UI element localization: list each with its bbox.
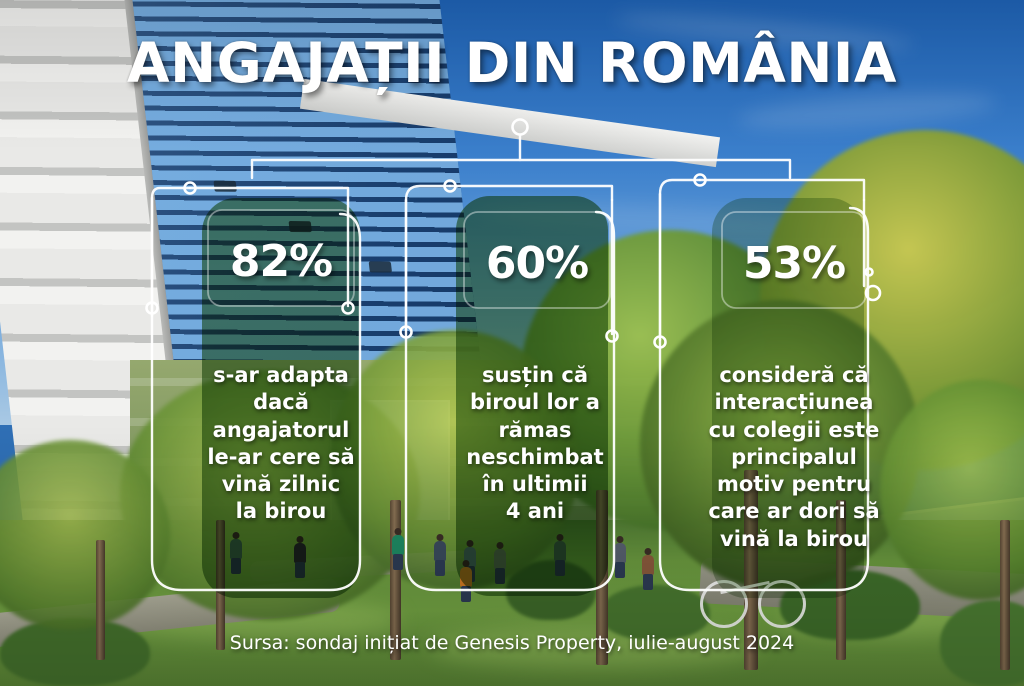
stat-card-2: 60%: [412, 238, 662, 289]
stat-card-3: 53%: [669, 238, 919, 289]
page-title: ANGAJAȚII DIN ROMÂNIA: [0, 31, 1024, 95]
stat-percent-1: 82%: [156, 236, 406, 287]
stat-percent-3: 53%: [669, 238, 919, 289]
source-note: Sursa: sondaj inițiat de Genesis Propert…: [0, 632, 1024, 654]
stat-description-3: consideră că interacțiunea cu colegii es…: [639, 362, 949, 553]
stat-description-wrap-3: consideră că interacțiunea cu colegii es…: [639, 362, 949, 553]
stat-card-1: 82%: [156, 236, 406, 287]
stat-percent-2: 60%: [412, 238, 662, 289]
infographic-root: ANGAJAȚII DIN ROMÂNIA 82% s-ar adapta da…: [0, 0, 1024, 686]
